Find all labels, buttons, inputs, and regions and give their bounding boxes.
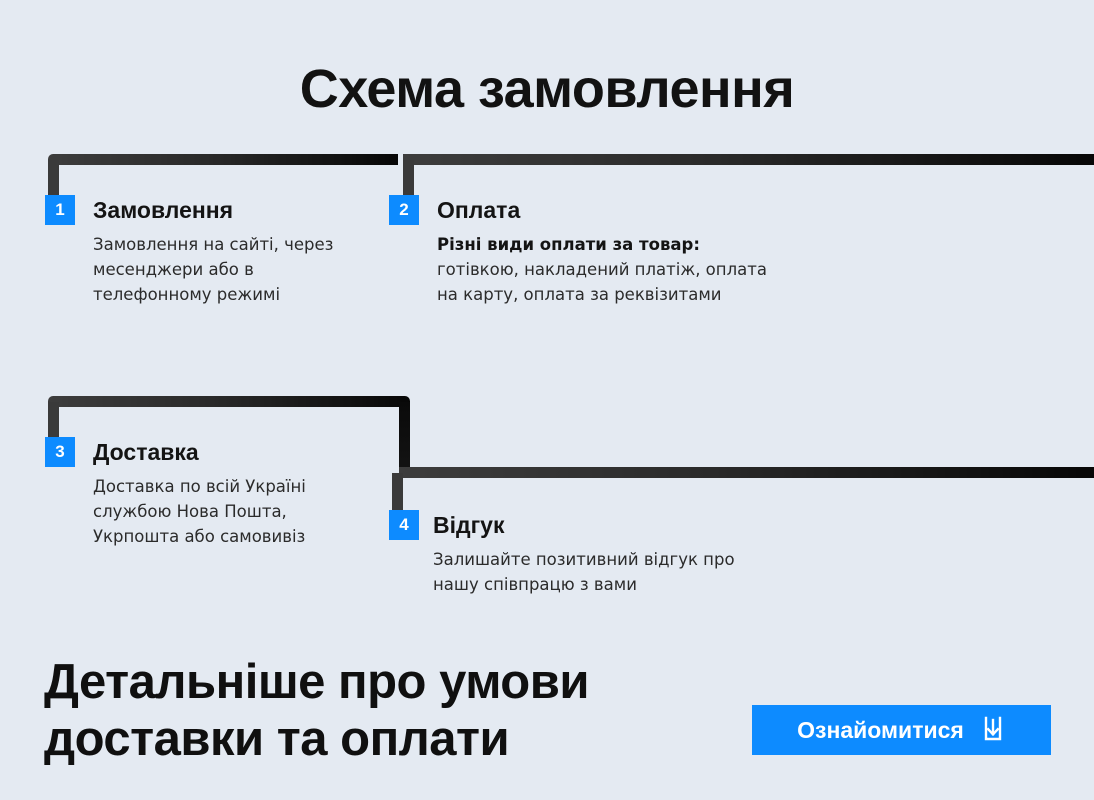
step-title-4: Відгук bbox=[433, 510, 504, 540]
step-title-2: Оплата bbox=[437, 195, 520, 225]
step-title-3: Доставка bbox=[93, 437, 199, 467]
step-badge-4: 4 bbox=[389, 510, 419, 540]
download-arrow-icon bbox=[980, 715, 1006, 745]
step-body-2-text: готівкою, накладений платіж, оплата на к… bbox=[437, 260, 767, 304]
step-body-4: Залишайте позитивний відгук про нашу спі… bbox=[433, 547, 773, 597]
step-body-2: Різні види оплати за товар: готівкою, на… bbox=[437, 232, 767, 307]
step-badge-3: 3 bbox=[45, 437, 75, 467]
infographic-canvas: Схема замовлення 1 Замовлення Замовлення… bbox=[0, 0, 1094, 800]
connector-line-row1-segment-b bbox=[403, 154, 1094, 165]
footer-heading: Детальніше про умови доставки та оплати bbox=[44, 654, 734, 768]
step-badge-2: 2 bbox=[389, 195, 419, 225]
connector-line-row3 bbox=[399, 467, 1094, 478]
connector-drop-step4 bbox=[392, 473, 403, 513]
connector-vertical-row2-to-row3 bbox=[399, 402, 410, 470]
step-body-2-lead: Різні види оплати за товар: bbox=[437, 232, 767, 257]
connector-line-row1-segment-a bbox=[48, 154, 398, 165]
cta-button[interactable]: Ознайомитися bbox=[752, 705, 1051, 755]
connector-line-row2 bbox=[48, 396, 410, 407]
cta-button-label: Ознайомитися bbox=[797, 717, 964, 744]
page-title: Схема замовлення bbox=[0, 58, 1094, 120]
step-body-1: Замовлення на сайті, через месенджери аб… bbox=[93, 232, 355, 307]
step-badge-1: 1 bbox=[45, 195, 75, 225]
step-body-3: Доставка по всій Україні службою Нова По… bbox=[93, 474, 351, 549]
step-title-1: Замовлення bbox=[93, 195, 233, 225]
